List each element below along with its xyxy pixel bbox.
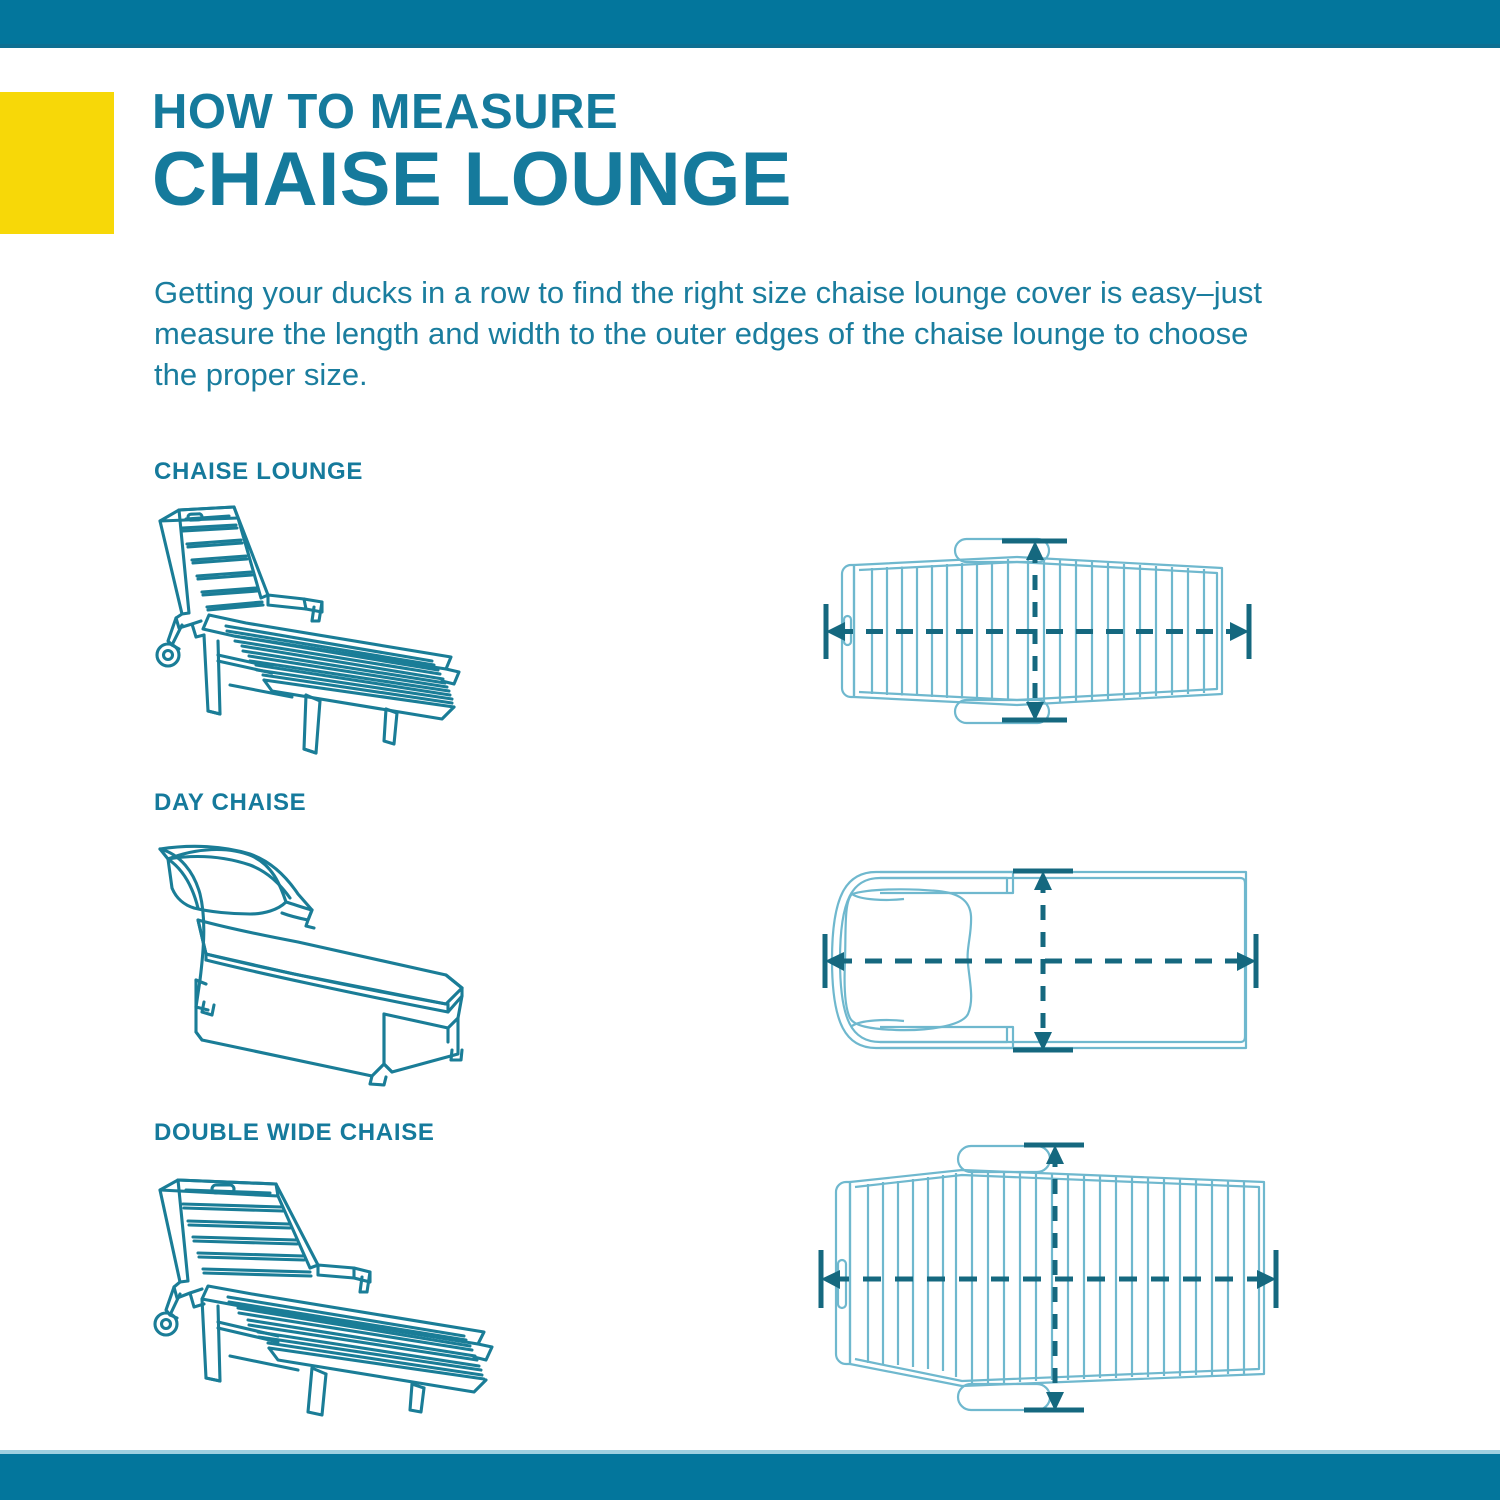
page-title-group: HOW TO MEASURE CHAISE LOUNGE [152,88,1332,219]
section-label-double-wide-chaise: DOUBLE WIDE CHAISE [154,1119,435,1147]
top-brand-bar-hairline [0,44,1500,48]
section-label-day-chaise: DAY CHAISE [154,789,306,817]
infographic-page: HOW TO MEASURE CHAISE LOUNGE Getting you… [0,0,1500,1500]
intro-paragraph: Getting your ducks in a row to find the … [154,272,1264,396]
title-kicker: HOW TO MEASURE [152,88,1332,137]
bottom-brand-bar [0,1454,1500,1500]
day-chaise-top-view-diagram [808,860,1268,1060]
chaise-lounge-perspective-illustration [146,495,486,765]
chaise-lounge-top-view-diagram [812,528,1262,728]
top-brand-bar [0,0,1500,44]
day-chaise-perspective-illustration [146,832,496,1082]
double-wide-chaise-top-view-diagram [806,1132,1291,1422]
page-title: CHAISE LOUNGE [152,141,1332,219]
double-wide-chaise-perspective-illustration [146,1160,516,1415]
section-label-chaise-lounge: CHAISE LOUNGE [154,458,363,486]
yellow-accent-block [0,92,114,234]
